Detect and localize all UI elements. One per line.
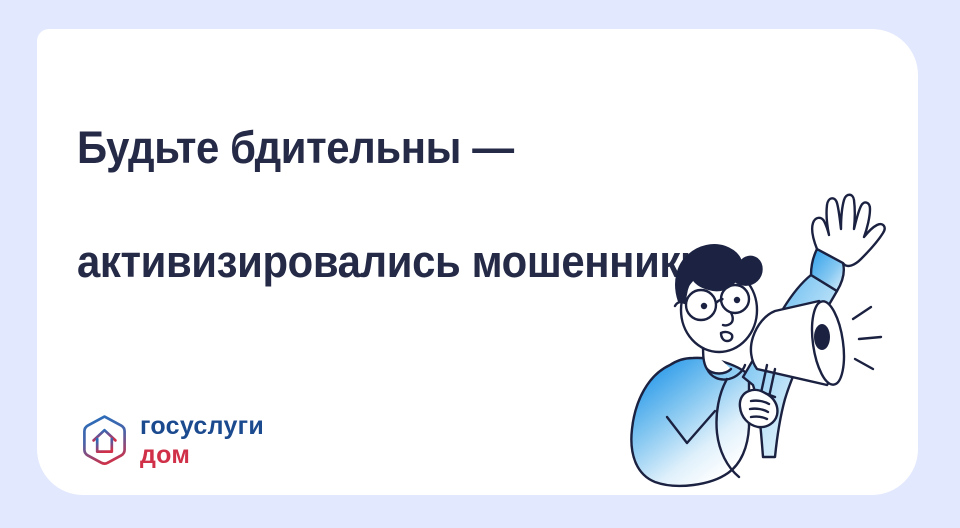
content-card: Будьте бдительны — активизировались моше…	[37, 29, 918, 495]
house-in-hexagon-icon	[80, 414, 129, 467]
logo-word-gosuslugi: госуслуги	[140, 413, 264, 439]
gosuslugi-dom-logo[interactable]: госуслуги дом	[80, 413, 264, 468]
person-with-megaphone-illustration	[615, 179, 900, 489]
banner-root: Будьте бдительны — активизировались моше…	[0, 0, 960, 528]
logo-wordmark: госуслуги дом	[140, 413, 264, 468]
logo-word-dom: дом	[140, 442, 264, 468]
headline-line-1: Будьте бдительны —	[77, 119, 728, 176]
